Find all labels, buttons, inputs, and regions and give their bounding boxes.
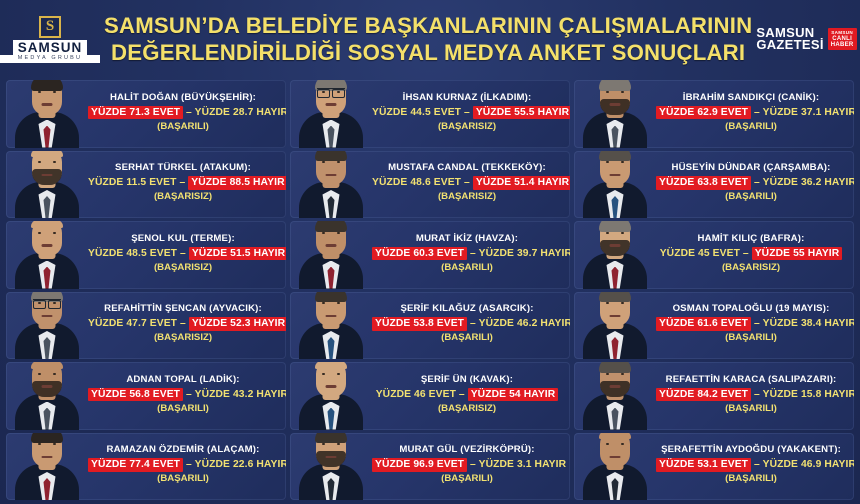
vote-result: YÜZDE 62.9 EVET – YÜZDE 37.1 HAYIR bbox=[656, 105, 846, 120]
mayor-name: ŞERAFETTİN AYDOĞDU (YAKAKENT): bbox=[656, 443, 846, 457]
status-badge: (BAŞARISIZ) bbox=[372, 402, 562, 416]
no-value: YÜZDE 37.1 HAYIR bbox=[763, 107, 854, 118]
result-text: REFAHİTTİN ŞENCAN (AYVACIK):YÜZDE 47.7 E… bbox=[88, 300, 282, 350]
result-text: HALİT DOĞAN (BÜYÜKŞEHİR):YÜZDE 71.3 EVET… bbox=[88, 89, 282, 139]
badge-line-3: HABER bbox=[831, 42, 854, 48]
results-grid: HALİT DOĞAN (BÜYÜKŞEHİR):YÜZDE 71.3 EVET… bbox=[0, 78, 860, 504]
mayor-portrait bbox=[578, 221, 652, 289]
mayor-name: MURAT GÜL (VEZİRKÖPRÜ): bbox=[372, 443, 562, 457]
result-text: ŞERİF ÜN (KAVAK):YÜZDE 46 EVET – YÜZDE 5… bbox=[372, 371, 566, 421]
yes-value: YÜZDE 53.1 EVET bbox=[656, 458, 751, 472]
mayor-portrait bbox=[294, 80, 368, 148]
result-text: HÜSEYİN DÜNDAR (ÇARŞAMBA):YÜZDE 63.8 EVE… bbox=[656, 159, 850, 209]
portrait-eye-right bbox=[53, 373, 56, 375]
portrait-mouth bbox=[610, 315, 621, 318]
status-badge: (BAŞARISIZ) bbox=[372, 190, 562, 204]
vote-result: YÜZDE 84.2 EVET – YÜZDE 15.8 HAYIR bbox=[656, 387, 846, 402]
result-text: ŞENOL KUL (TERME):YÜZDE 48.5 EVET – YÜZD… bbox=[88, 230, 282, 280]
status-badge: (BAŞARISIZ) bbox=[656, 261, 846, 275]
portrait-bald-head bbox=[31, 221, 63, 228]
page-title: SAMSUN’DA BELEDİYE BAŞKANLARININ ÇALIŞMA… bbox=[100, 12, 756, 66]
portrait-mouth bbox=[42, 244, 53, 247]
mayor-portrait bbox=[578, 433, 652, 501]
status-badge: (BAŞARILI) bbox=[88, 120, 278, 134]
no-value: YÜZDE 38.4 HAYIR bbox=[763, 318, 854, 329]
no-value: YÜZDE 43.2 HAYIR bbox=[195, 389, 286, 400]
result-text: REFAETTİN KARACA (SALIPAZARI):YÜZDE 84.2… bbox=[656, 371, 850, 421]
samsun-gazetesi-brand: SAMSUN GAZETESİ SAMSUN CANLI HABER bbox=[756, 27, 860, 52]
yes-value: YÜZDE 48.5 EVET bbox=[88, 248, 177, 259]
no-value: YÜZDE 52.3 HAYIR bbox=[189, 317, 286, 331]
result-card[interactable]: OSMAN TOPALOĞLU (19 MAYIS):YÜZDE 61.6 EV… bbox=[574, 292, 854, 360]
portrait-hair bbox=[599, 292, 631, 303]
portrait-hair bbox=[31, 433, 63, 444]
yes-value: YÜZDE 77.4 EVET bbox=[88, 458, 183, 472]
portrait-hair bbox=[315, 151, 347, 162]
no-value: YÜZDE 36.2 HAYIR bbox=[763, 177, 854, 188]
logo-name: SAMSUN bbox=[13, 40, 88, 55]
result-card[interactable]: ADNAN TOPAL (LADİK):YÜZDE 56.8 EVET – YÜ… bbox=[6, 362, 286, 430]
yes-value: YÜZDE 11.5 EVET bbox=[88, 177, 177, 188]
mayor-portrait bbox=[10, 151, 84, 219]
result-card[interactable]: REFAHİTTİN ŞENCAN (AYVACIK):YÜZDE 47.7 E… bbox=[6, 292, 286, 360]
value-separator: – bbox=[177, 248, 189, 259]
yes-value: YÜZDE 63.8 EVET bbox=[656, 176, 751, 190]
mayor-name: SERHAT TÜRKEL (ATAKUM): bbox=[88, 161, 278, 175]
portrait-eye-left bbox=[322, 373, 325, 375]
portrait-mouth bbox=[42, 385, 53, 388]
status-badge: (BAŞARILI) bbox=[372, 472, 562, 486]
result-card[interactable]: ŞERAFETTİN AYDOĞDU (YAKAKENT):YÜZDE 53.1… bbox=[574, 433, 854, 501]
vote-result: YÜZDE 44.5 EVET – YÜZDE 55.5 HAYIR bbox=[372, 105, 562, 120]
status-badge: (BAŞARILI) bbox=[88, 402, 278, 416]
result-card[interactable]: MUSTAFA CANDAL (TEKKEKÖY):YÜZDE 48.6 EVE… bbox=[290, 151, 570, 219]
mayor-portrait bbox=[294, 292, 368, 360]
portrait-eye-right bbox=[621, 161, 624, 163]
no-value: YÜZDE 51.5 HAYIR bbox=[189, 247, 286, 261]
result-text: MUSTAFA CANDAL (TEKKEKÖY):YÜZDE 48.6 EVE… bbox=[372, 159, 566, 209]
yes-value: YÜZDE 96.9 EVET bbox=[372, 458, 467, 472]
value-separator: – bbox=[177, 318, 189, 329]
result-card[interactable]: HALİT DOĞAN (BÜYÜKŞEHİR):YÜZDE 71.3 EVET… bbox=[6, 80, 286, 148]
portrait-eye-right bbox=[621, 232, 624, 234]
no-value: YÜZDE 46.9 HAYIR bbox=[763, 459, 854, 470]
portrait-hair bbox=[599, 80, 631, 91]
portrait-mouth bbox=[610, 385, 621, 388]
vote-result: YÜZDE 63.8 EVET – YÜZDE 36.2 HAYIR bbox=[656, 175, 846, 190]
portrait-eye-right bbox=[53, 91, 56, 93]
value-separator: – bbox=[183, 107, 195, 118]
result-card[interactable]: ŞERİF KILAĞUZ (ASARCIK):YÜZDE 53.8 EVET … bbox=[290, 292, 570, 360]
poll-results-board: S SAMSUN MEDYA GRUBU SAMSUN’DA BELEDİYE … bbox=[0, 0, 860, 504]
result-text: OSMAN TOPALOĞLU (19 MAYIS):YÜZDE 61.6 EV… bbox=[656, 300, 850, 350]
yes-value: YÜZDE 62.9 EVET bbox=[656, 106, 751, 120]
result-card[interactable]: MURAT İKİZ (HAVZA):YÜZDE 60.3 EVET – YÜZ… bbox=[290, 221, 570, 289]
mayor-portrait bbox=[294, 433, 368, 501]
glasses-icon bbox=[33, 299, 61, 307]
yes-value: YÜZDE 44.5 EVET bbox=[372, 107, 461, 118]
portrait-eye-right bbox=[337, 232, 340, 234]
canli-haber-badge: SAMSUN CANLI HABER bbox=[828, 28, 857, 50]
vote-result: YÜZDE 53.8 EVET – YÜZDE 46.2 HAYIR bbox=[372, 316, 562, 331]
page-title-line-2: DEĞERLENDİRİLDİĞİ SOSYAL MEDYA ANKET SON… bbox=[104, 39, 752, 66]
result-card[interactable]: ŞERİF ÜN (KAVAK):YÜZDE 46 EVET – YÜZDE 5… bbox=[290, 362, 570, 430]
mayor-name: HALİT DOĞAN (BÜYÜKŞEHİR): bbox=[88, 91, 278, 105]
mayor-portrait bbox=[10, 433, 84, 501]
mayor-name: ŞENOL KUL (TERME): bbox=[88, 232, 278, 246]
portrait-bald-head bbox=[599, 433, 631, 440]
portrait-mouth bbox=[326, 174, 337, 177]
vote-result: YÜZDE 53.1 EVET – YÜZDE 46.9 HAYIR bbox=[656, 457, 846, 472]
vote-result: YÜZDE 96.9 EVET – YÜZDE 3.1 HAYIR bbox=[372, 457, 562, 472]
portrait-eye-left bbox=[322, 232, 325, 234]
yes-value: YÜZDE 48.6 EVET bbox=[372, 177, 461, 188]
portrait-eye-right bbox=[53, 443, 56, 445]
portrait-eye-right bbox=[621, 373, 624, 375]
portrait-eye-left bbox=[606, 232, 609, 234]
mayor-name: ŞERİF KILAĞUZ (ASARCIK): bbox=[372, 302, 562, 316]
mayor-portrait bbox=[578, 292, 652, 360]
no-value: YÜZDE 51.4 HAYIR bbox=[473, 176, 570, 190]
result-text: ADNAN TOPAL (LADİK):YÜZDE 56.8 EVET – YÜ… bbox=[88, 371, 282, 421]
value-separator: – bbox=[467, 459, 479, 470]
no-value: YÜZDE 22.6 HAYIR bbox=[195, 459, 286, 470]
result-card[interactable]: MURAT GÜL (VEZİRKÖPRÜ):YÜZDE 96.9 EVET –… bbox=[290, 433, 570, 501]
portrait-eye-right bbox=[337, 161, 340, 163]
brand-line-2: GAZETESİ bbox=[756, 39, 823, 52]
vote-result: YÜZDE 47.7 EVET – YÜZDE 52.3 HAYIR bbox=[88, 316, 278, 331]
yes-value: YÜZDE 71.3 EVET bbox=[88, 106, 183, 120]
brand-text: SAMSUN GAZETESİ bbox=[756, 27, 823, 52]
mayor-name: MURAT İKİZ (HAVZA): bbox=[372, 232, 562, 246]
portrait-mouth bbox=[326, 456, 337, 459]
no-value: YÜZDE 15.8 HAYIR bbox=[763, 389, 854, 400]
status-badge: (BAŞARILI) bbox=[656, 331, 846, 345]
vote-result: YÜZDE 77.4 EVET – YÜZDE 22.6 HAYIR bbox=[88, 457, 278, 472]
value-separator: – bbox=[751, 459, 763, 470]
portrait-mouth bbox=[42, 174, 53, 177]
portrait-eye-right bbox=[621, 443, 624, 445]
value-separator: – bbox=[456, 389, 468, 400]
result-text: RAMAZAN ÖZDEMİR (ALAÇAM):YÜZDE 77.4 EVET… bbox=[88, 441, 282, 491]
status-badge: (BAŞARISIZ) bbox=[88, 331, 278, 345]
mayor-name: İBRAHİM SANDIKÇI (CANİK): bbox=[656, 91, 846, 105]
portrait-eye-right bbox=[53, 161, 56, 163]
portrait-mouth bbox=[326, 385, 337, 388]
portrait-mouth bbox=[326, 244, 337, 247]
result-card[interactable]: İHSAN KURNAZ (İLKADIM):YÜZDE 44.5 EVET –… bbox=[290, 80, 570, 148]
portrait-eye-right bbox=[337, 302, 340, 304]
yes-value: YÜZDE 84.2 EVET bbox=[656, 388, 751, 402]
value-separator: – bbox=[467, 318, 479, 329]
status-badge: (BAŞARILI) bbox=[372, 261, 562, 275]
portrait-hair bbox=[315, 433, 347, 444]
portrait-eye-left bbox=[38, 443, 41, 445]
glasses-icon bbox=[317, 88, 345, 96]
samsun-medya-grubu-logo: S SAMSUN MEDYA GRUBU bbox=[0, 0, 100, 78]
portrait-mouth bbox=[610, 103, 621, 106]
result-text: İBRAHİM SANDIKÇI (CANİK):YÜZDE 62.9 EVET… bbox=[656, 89, 850, 139]
value-separator: – bbox=[461, 177, 473, 188]
status-badge: (BAŞARISIZ) bbox=[372, 120, 562, 134]
result-text: HAMİT KILIÇ (BAFRA):YÜZDE 45 EVET – YÜZD… bbox=[656, 230, 850, 280]
mayor-portrait bbox=[10, 362, 84, 430]
status-badge: (BAŞARILI) bbox=[372, 331, 562, 345]
logo-s-mark: S bbox=[39, 16, 61, 38]
mayor-name: RAMAZAN ÖZDEMİR (ALAÇAM): bbox=[88, 443, 278, 457]
portrait-bald-head bbox=[31, 362, 63, 369]
status-badge: (BAŞARISIZ) bbox=[88, 261, 278, 275]
portrait-mouth bbox=[326, 315, 337, 318]
logo-subtitle: MEDYA GRUBU bbox=[0, 55, 100, 63]
result-card[interactable]: REFAETTİN KARACA (SALIPAZARI):YÜZDE 84.2… bbox=[574, 362, 854, 430]
mayor-name: ADNAN TOPAL (LADİK): bbox=[88, 373, 278, 387]
portrait-mouth bbox=[610, 456, 621, 459]
portrait-eye-left bbox=[322, 302, 325, 304]
portrait-eye-left bbox=[38, 91, 41, 93]
result-text: MURAT İKİZ (HAVZA):YÜZDE 60.3 EVET – YÜZ… bbox=[372, 230, 566, 280]
portrait-eye-left bbox=[322, 443, 325, 445]
status-badge: (BAŞARILI) bbox=[656, 190, 846, 204]
result-text: İHSAN KURNAZ (İLKADIM):YÜZDE 44.5 EVET –… bbox=[372, 89, 566, 139]
mayor-portrait bbox=[10, 292, 84, 360]
portrait-hair bbox=[599, 362, 631, 373]
portrait-mouth bbox=[610, 174, 621, 177]
no-value: YÜZDE 46.2 HAYIR bbox=[479, 318, 570, 329]
result-text: MURAT GÜL (VEZİRKÖPRÜ):YÜZDE 96.9 EVET –… bbox=[372, 441, 566, 491]
mayor-name: MUSTAFA CANDAL (TEKKEKÖY): bbox=[372, 161, 562, 175]
mayor-portrait bbox=[294, 221, 368, 289]
no-value: YÜZDE 55 HAYIR bbox=[752, 247, 843, 261]
value-separator: – bbox=[461, 107, 473, 118]
portrait-eye-left bbox=[606, 373, 609, 375]
portrait-hair bbox=[31, 80, 63, 91]
mayor-name: REFAETTİN KARACA (SALIPAZARI): bbox=[656, 373, 846, 387]
result-card[interactable]: SERHAT TÜRKEL (ATAKUM):YÜZDE 11.5 EVET –… bbox=[6, 151, 286, 219]
vote-result: YÜZDE 61.6 EVET – YÜZDE 38.4 HAYIR bbox=[656, 316, 846, 331]
mayor-name: HÜSEYİN DÜNDAR (ÇARŞAMBA): bbox=[656, 161, 846, 175]
yes-value: YÜZDE 61.6 EVET bbox=[656, 317, 751, 331]
portrait-eye-right bbox=[621, 302, 624, 304]
portrait-mouth bbox=[326, 103, 337, 106]
value-separator: – bbox=[177, 177, 189, 188]
result-text: SERHAT TÜRKEL (ATAKUM):YÜZDE 11.5 EVET –… bbox=[88, 159, 282, 209]
page-title-line-1: SAMSUN’DA BELEDİYE BAŞKANLARININ ÇALIŞMA… bbox=[104, 12, 752, 39]
portrait-mouth bbox=[42, 103, 53, 106]
no-value: YÜZDE 54 HAYIR bbox=[468, 388, 559, 402]
mayor-name: İHSAN KURNAZ (İLKADIM): bbox=[372, 91, 562, 105]
value-separator: – bbox=[751, 177, 763, 188]
vote-result: YÜZDE 60.3 EVET – YÜZDE 39.7 HAYIR bbox=[372, 246, 562, 261]
yes-value: YÜZDE 56.8 EVET bbox=[88, 388, 183, 402]
mayor-portrait bbox=[578, 151, 652, 219]
no-value: YÜZDE 39.7 HAYIR bbox=[479, 248, 570, 259]
mayor-portrait bbox=[10, 221, 84, 289]
value-separator: – bbox=[183, 459, 195, 470]
vote-result: YÜZDE 56.8 EVET – YÜZDE 43.2 HAYIR bbox=[88, 387, 278, 402]
vote-result: YÜZDE 45 EVET – YÜZDE 55 HAYIR bbox=[656, 246, 846, 261]
mayor-name: ŞERİF ÜN (KAVAK): bbox=[372, 373, 562, 387]
result-card[interactable]: HÜSEYİN DÜNDAR (ÇARŞAMBA):YÜZDE 63.8 EVE… bbox=[574, 151, 854, 219]
result-text: ŞERİF KILAĞUZ (ASARCIK):YÜZDE 53.8 EVET … bbox=[372, 300, 566, 350]
portrait-eye-right bbox=[621, 91, 624, 93]
portrait-eye-left bbox=[606, 91, 609, 93]
portrait-eye-right bbox=[53, 232, 56, 234]
vote-result: YÜZDE 48.5 EVET – YÜZDE 51.5 HAYIR bbox=[88, 246, 278, 261]
portrait-hair bbox=[599, 221, 631, 232]
mayor-name: REFAHİTTİN ŞENCAN (AYVACIK): bbox=[88, 302, 278, 316]
portrait-bald-head bbox=[315, 362, 347, 369]
no-value: YÜZDE 55.5 HAYIR bbox=[473, 106, 570, 120]
status-badge: (BAŞARILI) bbox=[88, 472, 278, 486]
no-value: YÜZDE 88.5 HAYIR bbox=[188, 176, 286, 190]
portrait-hair bbox=[599, 151, 631, 162]
value-separator: – bbox=[740, 248, 752, 259]
portrait-mouth bbox=[42, 456, 53, 459]
mayor-portrait bbox=[10, 80, 84, 148]
portrait-eye-left bbox=[606, 443, 609, 445]
value-separator: – bbox=[751, 107, 763, 118]
yes-value: YÜZDE 47.7 EVET bbox=[88, 318, 177, 329]
portrait-eye-left bbox=[606, 161, 609, 163]
mayor-name: OSMAN TOPALOĞLU (19 MAYIS): bbox=[656, 302, 846, 316]
portrait-eye-left bbox=[38, 232, 41, 234]
status-badge: (BAŞARILI) bbox=[656, 472, 846, 486]
result-text: ŞERAFETTİN AYDOĞDU (YAKAKENT):YÜZDE 53.1… bbox=[656, 441, 850, 491]
yes-value: YÜZDE 53.8 EVET bbox=[372, 317, 467, 331]
portrait-mouth bbox=[610, 244, 621, 247]
portrait-hair bbox=[315, 292, 347, 303]
mayor-portrait bbox=[578, 362, 652, 430]
portrait-eye-left bbox=[322, 161, 325, 163]
mayor-name: HAMİT KILIÇ (BAFRA): bbox=[656, 232, 846, 246]
value-separator: – bbox=[751, 318, 763, 329]
mayor-portrait bbox=[294, 362, 368, 430]
portrait-eye-left bbox=[38, 373, 41, 375]
vote-result: YÜZDE 46 EVET – YÜZDE 54 HAYIR bbox=[372, 387, 562, 402]
mayor-portrait bbox=[578, 80, 652, 148]
yes-value: YÜZDE 60.3 EVET bbox=[372, 247, 467, 261]
header: S SAMSUN MEDYA GRUBU SAMSUN’DA BELEDİYE … bbox=[0, 0, 860, 78]
status-badge: (BAŞARILI) bbox=[656, 120, 846, 134]
vote-result: YÜZDE 48.6 EVET – YÜZDE 51.4 HAYIR bbox=[372, 175, 562, 190]
no-value: YÜZDE 3.1 HAYIR bbox=[479, 459, 567, 470]
result-card[interactable]: İBRAHİM SANDIKÇI (CANİK):YÜZDE 62.9 EVET… bbox=[574, 80, 854, 148]
yes-value: YÜZDE 45 EVET bbox=[660, 248, 740, 259]
no-value: YÜZDE 28.7 HAYIR bbox=[195, 107, 286, 118]
result-card[interactable]: HAMİT KILIÇ (BAFRA):YÜZDE 45 EVET – YÜZD… bbox=[574, 221, 854, 289]
value-separator: – bbox=[467, 248, 479, 259]
portrait-eye-right bbox=[337, 373, 340, 375]
portrait-eye-left bbox=[606, 302, 609, 304]
value-separator: – bbox=[751, 389, 763, 400]
vote-result: YÜZDE 71.3 EVET – YÜZDE 28.7 HAYIR bbox=[88, 105, 278, 120]
status-badge: (BAŞARISIZ) bbox=[88, 190, 278, 204]
value-separator: – bbox=[183, 389, 195, 400]
result-card[interactable]: ŞENOL KUL (TERME):YÜZDE 48.5 EVET – YÜZD… bbox=[6, 221, 286, 289]
portrait-mouth bbox=[42, 315, 53, 318]
yes-value: YÜZDE 46 EVET bbox=[376, 389, 456, 400]
mayor-portrait bbox=[294, 151, 368, 219]
vote-result: YÜZDE 11.5 EVET – YÜZDE 88.5 HAYIR bbox=[88, 175, 278, 190]
portrait-eye-left bbox=[38, 161, 41, 163]
portrait-hair bbox=[315, 221, 347, 232]
portrait-bald-head bbox=[31, 151, 63, 158]
status-badge: (BAŞARILI) bbox=[656, 402, 846, 416]
result-card[interactable]: RAMAZAN ÖZDEMİR (ALAÇAM):YÜZDE 77.4 EVET… bbox=[6, 433, 286, 501]
portrait-eye-right bbox=[337, 443, 340, 445]
